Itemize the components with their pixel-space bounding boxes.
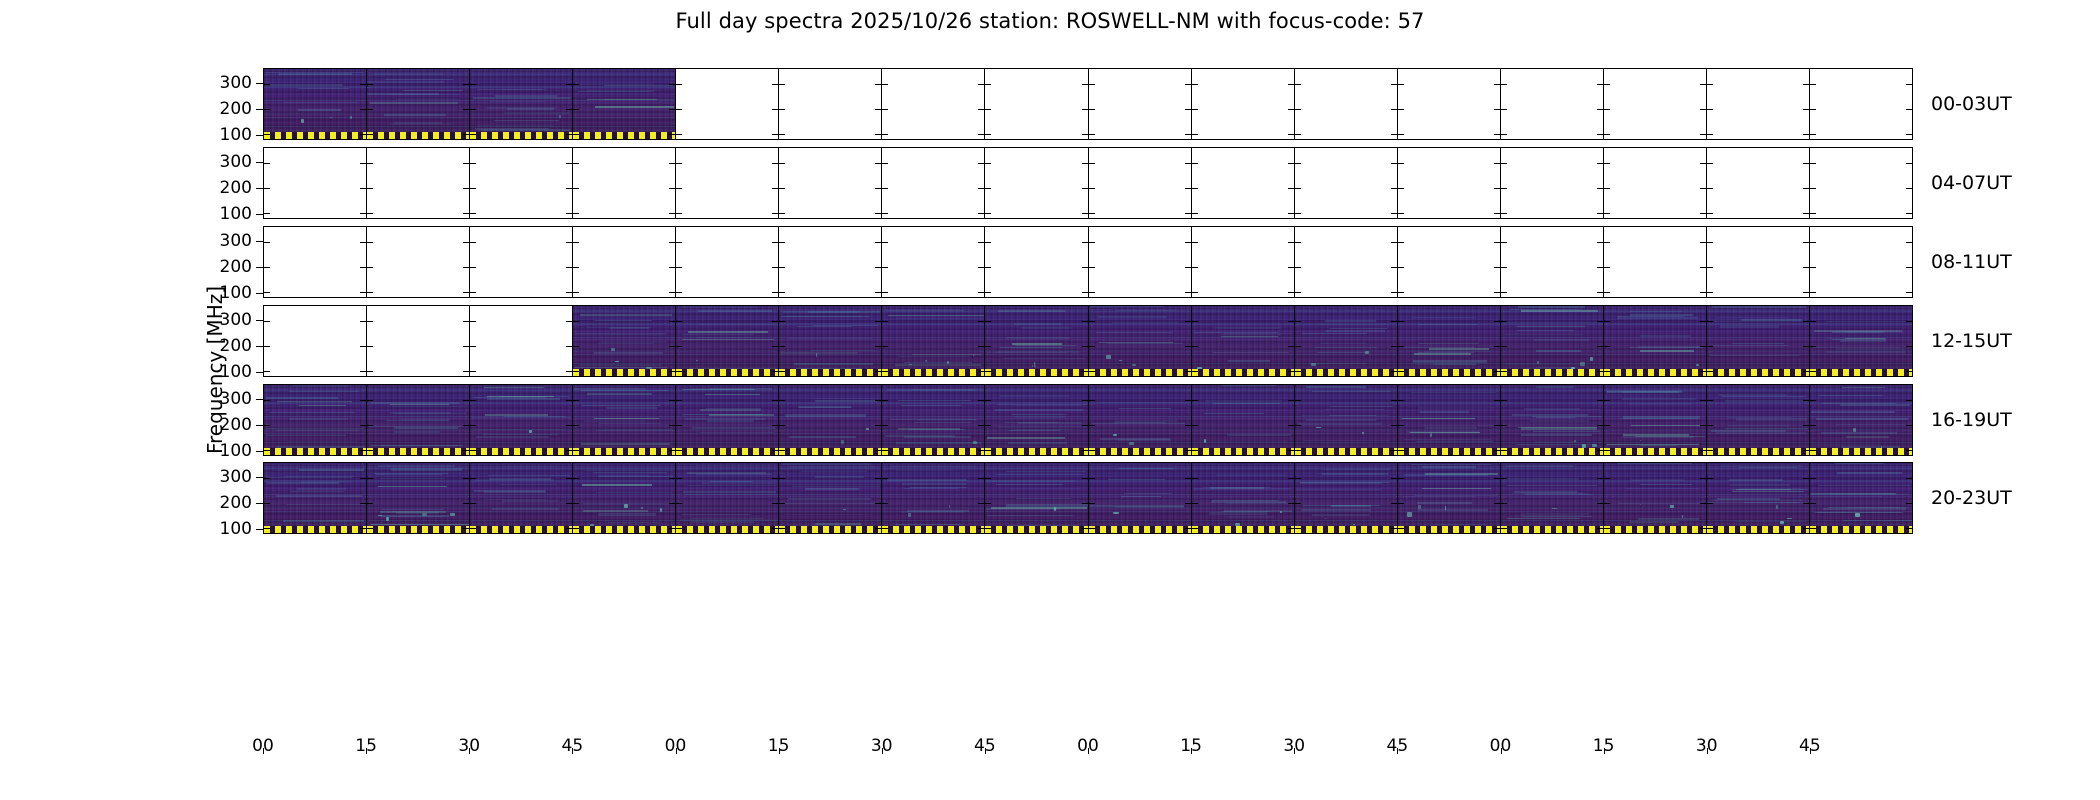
panel-y-tick bbox=[1089, 478, 1095, 479]
panel-y-tick bbox=[1295, 213, 1301, 214]
panel-y-tick bbox=[772, 188, 778, 189]
panel-y-tick bbox=[1082, 450, 1088, 451]
panel-y-tick bbox=[1185, 188, 1191, 189]
panel-y-tick bbox=[360, 188, 366, 189]
panel-y-tick bbox=[367, 292, 373, 293]
empty-panel[interactable] bbox=[779, 69, 882, 139]
empty-panel[interactable] bbox=[779, 148, 882, 218]
panel-y-tick bbox=[875, 109, 881, 110]
panel-y-tick bbox=[1803, 425, 1809, 426]
panel-y-tick bbox=[1391, 450, 1397, 451]
panel-y-tick bbox=[1082, 84, 1088, 85]
panel-y-tick bbox=[1501, 163, 1507, 164]
panel-y-tick bbox=[463, 163, 469, 164]
panel-y-tick bbox=[669, 478, 675, 479]
signal-blips bbox=[1398, 306, 1500, 376]
panel-y-tick bbox=[1604, 213, 1610, 214]
data-availability-marker bbox=[1707, 448, 1809, 455]
panel-y-tick bbox=[573, 163, 579, 164]
empty-panel[interactable] bbox=[1295, 227, 1398, 297]
spectrogram-image bbox=[779, 385, 881, 455]
empty-panel[interactable] bbox=[1604, 227, 1707, 297]
empty-panel[interactable] bbox=[1501, 227, 1604, 297]
empty-panel[interactable] bbox=[264, 148, 367, 218]
panel-y-tick bbox=[772, 400, 778, 401]
empty-panel[interactable] bbox=[985, 148, 1088, 218]
empty-panel[interactable] bbox=[470, 227, 573, 297]
x-axis: 00153045001530450015304500153045 bbox=[263, 736, 1913, 766]
data-availability-marker bbox=[264, 526, 366, 533]
data-availability-marker bbox=[1192, 448, 1294, 455]
panel-y-tick bbox=[1185, 503, 1191, 504]
panel-y-tick bbox=[1295, 503, 1301, 504]
panel-y-tick bbox=[566, 503, 572, 504]
spectrogram-image bbox=[367, 69, 469, 139]
spectrogram-figure: Full day spectra 2025/10/26 station: ROS… bbox=[0, 0, 2100, 800]
panel-y-tick bbox=[1192, 346, 1198, 347]
panel-y-tick bbox=[1295, 188, 1301, 189]
spectrogram-image bbox=[264, 463, 366, 533]
panel-y-tick bbox=[1501, 188, 1507, 189]
panel-y-tick bbox=[367, 213, 373, 214]
panel-y-tick bbox=[1707, 292, 1713, 293]
spectrogram-panel[interactable] bbox=[1707, 463, 1810, 533]
empty-panel[interactable] bbox=[1398, 227, 1501, 297]
empty-panel[interactable] bbox=[1089, 69, 1192, 139]
panel-y-tick bbox=[1391, 371, 1397, 372]
spectrogram-image bbox=[573, 385, 675, 455]
panel-y-tick bbox=[985, 163, 991, 164]
panel-y-tick bbox=[1288, 528, 1294, 529]
panel-y-tick bbox=[360, 292, 366, 293]
empty-panel[interactable] bbox=[1707, 148, 1810, 218]
signal-blips bbox=[676, 385, 778, 455]
spectrogram-panel[interactable] bbox=[676, 385, 779, 455]
empty-panel[interactable] bbox=[1810, 227, 1912, 297]
spectrogram-panel[interactable] bbox=[882, 385, 985, 455]
panel-y-tick bbox=[985, 213, 991, 214]
panel-y-tick bbox=[463, 84, 469, 85]
panel-y-tick bbox=[1398, 84, 1404, 85]
panel-y-tick bbox=[1501, 242, 1507, 243]
signal-blips bbox=[367, 463, 469, 533]
empty-panel[interactable] bbox=[1192, 227, 1295, 297]
panel-y-tick bbox=[1192, 400, 1198, 401]
spectrogram-panel[interactable] bbox=[1604, 306, 1707, 376]
spectrogram-panel[interactable] bbox=[1604, 385, 1707, 455]
spectrogram-panel[interactable] bbox=[1089, 463, 1192, 533]
spectrogram-panel[interactable] bbox=[264, 463, 367, 533]
panel-y-tick bbox=[1391, 321, 1397, 322]
empty-panel[interactable] bbox=[676, 69, 779, 139]
spectrogram-panel[interactable] bbox=[1707, 385, 1810, 455]
panel-y-tick bbox=[1597, 109, 1603, 110]
y-axis-tick bbox=[256, 425, 263, 426]
spectrogram-panel[interactable] bbox=[470, 463, 573, 533]
empty-panel[interactable] bbox=[1089, 148, 1192, 218]
spectrogram-panel[interactable] bbox=[367, 385, 470, 455]
panel-y-tick bbox=[1398, 267, 1404, 268]
panel-y-tick bbox=[573, 503, 579, 504]
panel-y-tick bbox=[978, 267, 984, 268]
y-axis-tick-label: 200 bbox=[220, 493, 252, 513]
panel-y-tick bbox=[882, 163, 888, 164]
spectrogram-panel[interactable] bbox=[1295, 385, 1398, 455]
panel-y-tick bbox=[1501, 321, 1507, 322]
data-availability-marker bbox=[573, 369, 675, 376]
spectrogram-panel[interactable] bbox=[1398, 463, 1501, 533]
empty-panel[interactable] bbox=[1295, 69, 1398, 139]
spectrogram-panel[interactable] bbox=[264, 385, 367, 455]
data-availability-marker bbox=[779, 369, 881, 376]
panel-y-tick bbox=[264, 109, 270, 110]
spectrogram-panel[interactable] bbox=[1604, 463, 1707, 533]
panel-y-tick bbox=[1288, 134, 1294, 135]
panel-y-tick bbox=[470, 84, 476, 85]
y-axis-tick-label: 100 bbox=[220, 125, 252, 145]
panel-y-tick bbox=[978, 188, 984, 189]
panel-y-tick bbox=[676, 503, 682, 504]
empty-panel[interactable] bbox=[1089, 227, 1192, 297]
empty-panel[interactable] bbox=[1295, 148, 1398, 218]
spectrogram-panel[interactable] bbox=[1810, 385, 1912, 455]
panel-y-tick bbox=[1185, 242, 1191, 243]
panel-y-tick bbox=[1295, 134, 1301, 135]
panel-y-tick bbox=[978, 425, 984, 426]
panel-y-tick bbox=[1494, 478, 1500, 479]
data-availability-marker bbox=[676, 526, 778, 533]
panel-y-tick bbox=[367, 503, 373, 504]
panel-y-tick bbox=[573, 371, 579, 372]
empty-panel[interactable] bbox=[1604, 148, 1707, 218]
signal-blips bbox=[1295, 306, 1397, 376]
spectrogram-panel[interactable] bbox=[264, 69, 367, 139]
empty-panel[interactable] bbox=[1604, 69, 1707, 139]
spectrogram-panel[interactable] bbox=[1192, 463, 1295, 533]
panel-y-tick bbox=[1288, 425, 1294, 426]
panel-y-tick bbox=[367, 242, 373, 243]
panel-y-tick bbox=[1597, 267, 1603, 268]
spectrogram-image bbox=[1192, 463, 1294, 533]
spectrogram-panel[interactable] bbox=[367, 463, 470, 533]
empty-panel[interactable] bbox=[573, 148, 676, 218]
empty-panel[interactable] bbox=[470, 148, 573, 218]
empty-panel[interactable] bbox=[882, 148, 985, 218]
empty-panel[interactable] bbox=[779, 227, 882, 297]
empty-panel[interactable] bbox=[882, 227, 985, 297]
panel-y-tick bbox=[1501, 371, 1507, 372]
panel-y-tick bbox=[1700, 478, 1706, 479]
panel-y-tick bbox=[772, 163, 778, 164]
spectrogram-panel[interactable] bbox=[1810, 306, 1912, 376]
spectrogram-panel[interactable] bbox=[367, 69, 470, 139]
panel-y-tick bbox=[566, 292, 572, 293]
panel-y-tick bbox=[1391, 109, 1397, 110]
panel-y-tick bbox=[360, 425, 366, 426]
panel-y-tick bbox=[470, 528, 476, 529]
panel-y-tick bbox=[779, 321, 785, 322]
panel-y-tick bbox=[978, 163, 984, 164]
spectrogram-panel[interactable] bbox=[1501, 306, 1604, 376]
panel-y-tick bbox=[1707, 528, 1713, 529]
spectrogram-panel[interactable] bbox=[1192, 385, 1295, 455]
signal-blips bbox=[367, 69, 469, 139]
panel-y-tick bbox=[1700, 188, 1706, 189]
panel-y-tick bbox=[360, 213, 366, 214]
panel-y-tick bbox=[1597, 346, 1603, 347]
spectrogram-image bbox=[985, 385, 1087, 455]
empty-panel[interactable] bbox=[1810, 148, 1912, 218]
spectrogram-panel[interactable] bbox=[1810, 463, 1912, 533]
panel-y-tick bbox=[573, 528, 579, 529]
panel-y-tick bbox=[1192, 450, 1198, 451]
spectrogram-image bbox=[1604, 306, 1706, 376]
panel-y-tick bbox=[463, 321, 469, 322]
spectrogram-image bbox=[1398, 306, 1500, 376]
empty-panel[interactable] bbox=[985, 227, 1088, 297]
signal-blips bbox=[573, 463, 675, 533]
panel-y-tick bbox=[1597, 242, 1603, 243]
spectrogram-panel[interactable] bbox=[470, 385, 573, 455]
panel-y-tick bbox=[1089, 109, 1095, 110]
panel-y-tick bbox=[470, 425, 476, 426]
signal-blips bbox=[676, 463, 778, 533]
spectrogram-panel[interactable] bbox=[779, 385, 882, 455]
panel-y-tick bbox=[367, 321, 373, 322]
spectrogram-panel[interactable] bbox=[1501, 385, 1604, 455]
empty-panel[interactable] bbox=[367, 227, 470, 297]
y-axis-tick-label: 100 bbox=[220, 283, 252, 303]
panel-y-tick bbox=[1700, 425, 1706, 426]
x-axis-tick-label: 30 bbox=[1696, 736, 1718, 756]
panel-y-tick bbox=[978, 371, 984, 372]
empty-panel[interactable] bbox=[1192, 69, 1295, 139]
panel-y-tick bbox=[1906, 478, 1912, 479]
y-axis-tick bbox=[256, 451, 263, 452]
panel-y-tick bbox=[264, 242, 270, 243]
panel-y-tick bbox=[367, 371, 373, 372]
x-axis-tick-label: 00 bbox=[1490, 736, 1512, 756]
panel-y-tick bbox=[1700, 163, 1706, 164]
empty-panel[interactable] bbox=[882, 69, 985, 139]
spectrogram-panel[interactable] bbox=[573, 306, 676, 376]
data-availability-marker bbox=[1192, 369, 1294, 376]
panel-y-tick bbox=[1707, 134, 1713, 135]
empty-panel[interactable] bbox=[470, 306, 573, 376]
spectrogram-panel[interactable] bbox=[1089, 385, 1192, 455]
panel-y-tick bbox=[1192, 213, 1198, 214]
panel-y-tick bbox=[1604, 400, 1610, 401]
empty-panel[interactable] bbox=[1501, 148, 1604, 218]
row-frame bbox=[263, 384, 1913, 456]
data-availability-marker bbox=[1501, 526, 1603, 533]
panel-y-tick bbox=[1295, 242, 1301, 243]
spectrogram-panel[interactable] bbox=[779, 463, 882, 533]
data-availability-marker bbox=[1604, 369, 1706, 376]
panel-y-tick bbox=[573, 267, 579, 268]
panel-y-tick bbox=[1810, 188, 1816, 189]
panel-y-tick bbox=[1803, 400, 1809, 401]
x-axis-tick-label: 15 bbox=[1593, 736, 1615, 756]
panel-y-tick bbox=[573, 84, 579, 85]
empty-panel[interactable] bbox=[1398, 148, 1501, 218]
empty-panel[interactable] bbox=[264, 306, 367, 376]
empty-panel[interactable] bbox=[676, 227, 779, 297]
panel-y-tick bbox=[1707, 371, 1713, 372]
panel-y-tick bbox=[779, 346, 785, 347]
signal-blips bbox=[882, 385, 984, 455]
panel-y-tick bbox=[1597, 292, 1603, 293]
panel-y-tick bbox=[1288, 267, 1294, 268]
panel-y-tick bbox=[1597, 134, 1603, 135]
panel-y-tick bbox=[875, 213, 881, 214]
empty-panel[interactable] bbox=[676, 148, 779, 218]
panel-y-tick bbox=[1082, 242, 1088, 243]
panel-y-tick bbox=[1501, 478, 1507, 479]
x-axis-tick-label: 15 bbox=[1180, 736, 1202, 756]
panel-y-tick bbox=[1089, 213, 1095, 214]
spectrogram-panel[interactable] bbox=[882, 306, 985, 376]
panel-y-tick bbox=[676, 134, 682, 135]
empty-panel[interactable] bbox=[985, 69, 1088, 139]
panel-y-tick bbox=[367, 134, 373, 135]
spectrogram-panel[interactable] bbox=[470, 69, 573, 139]
panel-y-tick bbox=[264, 450, 270, 451]
panel-y-tick bbox=[1185, 478, 1191, 479]
spectrogram-image bbox=[779, 306, 881, 376]
panel-y-tick bbox=[1082, 267, 1088, 268]
panel-y-tick bbox=[1803, 450, 1809, 451]
panel-y-tick bbox=[1288, 450, 1294, 451]
spectrogram-image bbox=[1707, 463, 1809, 533]
empty-panel[interactable] bbox=[1192, 148, 1295, 218]
data-availability-marker bbox=[676, 369, 778, 376]
page-title: Full day spectra 2025/10/26 station: ROS… bbox=[0, 9, 2100, 33]
panel-y-tick bbox=[360, 503, 366, 504]
panel-y-tick bbox=[875, 503, 881, 504]
panel-y-tick bbox=[566, 134, 572, 135]
panel-y-tick bbox=[669, 346, 675, 347]
panel-y-tick bbox=[470, 478, 476, 479]
spectrogram-image bbox=[882, 463, 984, 533]
spectrogram-panel[interactable] bbox=[882, 463, 985, 533]
spectrogram-panel[interactable] bbox=[1501, 463, 1604, 533]
spectrogram-panel[interactable] bbox=[1295, 306, 1398, 376]
panel-y-tick bbox=[1192, 109, 1198, 110]
data-availability-marker bbox=[1089, 369, 1191, 376]
y-axis-tick bbox=[256, 399, 263, 400]
panel-y-tick bbox=[1391, 84, 1397, 85]
empty-panel[interactable] bbox=[1501, 69, 1604, 139]
panel-y-tick bbox=[1707, 242, 1713, 243]
panel-y-tick bbox=[1604, 321, 1610, 322]
panel-y-tick bbox=[1597, 425, 1603, 426]
panel-y-tick bbox=[669, 267, 675, 268]
panel-y-tick bbox=[463, 213, 469, 214]
empty-panel[interactable] bbox=[367, 306, 470, 376]
panel-y-tick bbox=[470, 213, 476, 214]
panel-y-tick bbox=[573, 346, 579, 347]
panel-y-tick bbox=[566, 450, 572, 451]
row-panels bbox=[264, 306, 1912, 376]
spectrogram-panel[interactable] bbox=[1398, 306, 1501, 376]
spectrogram-panel[interactable] bbox=[1089, 306, 1192, 376]
spectrogram-panel[interactable] bbox=[985, 463, 1088, 533]
empty-panel[interactable] bbox=[1707, 227, 1810, 297]
spectrogram-panel[interactable] bbox=[1398, 385, 1501, 455]
panel-y-tick bbox=[367, 450, 373, 451]
spectrogram-panel[interactable] bbox=[1707, 306, 1810, 376]
panel-y-tick bbox=[1810, 478, 1816, 479]
signal-blips bbox=[882, 306, 984, 376]
spectrogram-panel[interactable] bbox=[573, 385, 676, 455]
panel-y-tick bbox=[360, 528, 366, 529]
panel-y-tick bbox=[1082, 425, 1088, 426]
spectrogram-row: 300200100 bbox=[263, 68, 1913, 140]
y-axis-tick-label: 200 bbox=[220, 415, 252, 435]
empty-panel[interactable] bbox=[573, 227, 676, 297]
panel-y-tick bbox=[1185, 84, 1191, 85]
spectrogram-panel[interactable] bbox=[1192, 306, 1295, 376]
spectrogram-panel[interactable] bbox=[573, 463, 676, 533]
panel-y-tick bbox=[1597, 188, 1603, 189]
signal-blips bbox=[470, 69, 572, 139]
panel-y-tick bbox=[875, 450, 881, 451]
panel-y-tick bbox=[1295, 267, 1301, 268]
spectrogram-image bbox=[1707, 385, 1809, 455]
panel-y-tick bbox=[470, 371, 476, 372]
panel-y-tick bbox=[1810, 292, 1816, 293]
spectrogram-panel[interactable] bbox=[676, 463, 779, 533]
panel-y-tick bbox=[1089, 134, 1095, 135]
empty-panel[interactable] bbox=[1398, 69, 1501, 139]
x-axis-tick-label: 30 bbox=[871, 736, 893, 756]
panel-y-tick bbox=[264, 321, 270, 322]
panel-y-tick bbox=[566, 163, 572, 164]
panel-y-tick bbox=[264, 400, 270, 401]
signal-blips bbox=[1089, 463, 1191, 533]
spectrogram-row: 300200100 bbox=[263, 305, 1913, 377]
panel-y-tick bbox=[1803, 503, 1809, 504]
panel-y-tick bbox=[772, 503, 778, 504]
empty-panel[interactable] bbox=[264, 227, 367, 297]
panel-y-tick bbox=[1185, 371, 1191, 372]
spectrogram-panel[interactable] bbox=[573, 69, 676, 139]
spectrogram-panel[interactable] bbox=[779, 306, 882, 376]
data-availability-marker bbox=[882, 369, 984, 376]
empty-panel[interactable] bbox=[1707, 69, 1810, 139]
panel-y-tick bbox=[875, 267, 881, 268]
spectrogram-panel[interactable] bbox=[1295, 463, 1398, 533]
panel-y-tick bbox=[669, 242, 675, 243]
panel-y-tick bbox=[985, 267, 991, 268]
panel-y-tick bbox=[1089, 292, 1095, 293]
spectrogram-panel[interactable] bbox=[985, 306, 1088, 376]
spectrogram-image bbox=[882, 385, 984, 455]
panel-y-tick bbox=[875, 134, 881, 135]
signal-blips bbox=[985, 463, 1087, 533]
data-availability-marker bbox=[985, 369, 1087, 376]
empty-panel[interactable] bbox=[1810, 69, 1912, 139]
panel-y-tick bbox=[573, 242, 579, 243]
panel-y-tick bbox=[566, 109, 572, 110]
empty-panel[interactable] bbox=[367, 148, 470, 218]
spectrogram-panel[interactable] bbox=[676, 306, 779, 376]
panel-y-tick bbox=[1288, 503, 1294, 504]
panel-y-tick bbox=[669, 134, 675, 135]
spectrogram-panel[interactable] bbox=[985, 385, 1088, 455]
y-axis-tick-label: 200 bbox=[220, 99, 252, 119]
